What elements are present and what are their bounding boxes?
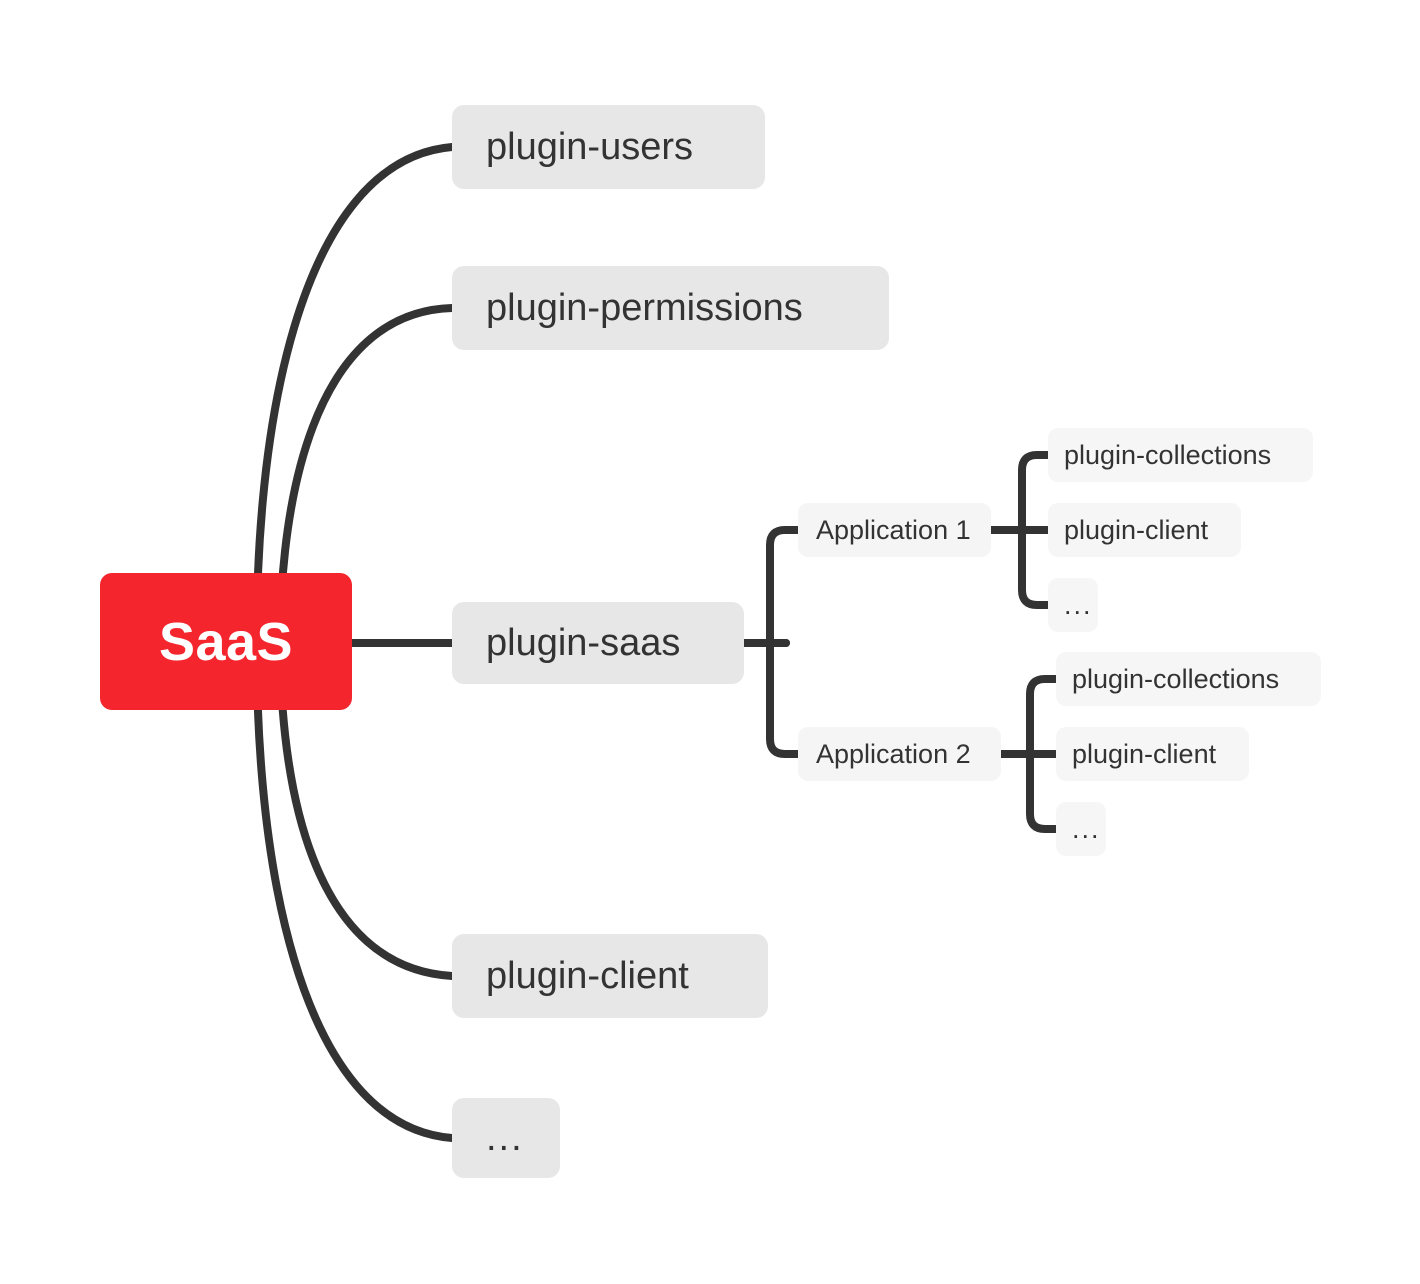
mindmap-canvas: SaaS plugin-users plugin-permissions plu…	[0, 0, 1420, 1284]
edge-application-2-trunk-to-more	[1030, 754, 1056, 829]
node-plugin-users-label: plugin-users	[486, 126, 693, 169]
node-plugin-permissions-label: plugin-permissions	[486, 287, 803, 330]
root-node-label: SaaS	[159, 611, 293, 673]
node-app1-plugin-collections[interactable]: plugin-collections	[1048, 428, 1313, 482]
node-plugin-permissions[interactable]: plugin-permissions	[452, 266, 889, 350]
node-app2-plugin-collections-label: plugin-collections	[1072, 664, 1279, 695]
node-application-2[interactable]: Application 2	[798, 727, 1001, 781]
edge-application-1-trunk-to-more	[1022, 530, 1048, 605]
node-plugin-saas-label: plugin-saas	[486, 622, 680, 665]
node-app1-plugin-collections-label: plugin-collections	[1064, 440, 1271, 471]
node-more[interactable]: ...	[452, 1098, 560, 1178]
node-plugin-client[interactable]: plugin-client	[452, 934, 768, 1018]
node-app2-more[interactable]: ...	[1056, 802, 1106, 856]
node-app2-plugin-collections[interactable]: plugin-collections	[1056, 652, 1321, 706]
node-plugin-client-label: plugin-client	[486, 955, 689, 998]
node-app1-more-label: ...	[1064, 590, 1093, 621]
node-application-1-label: Application 1	[816, 515, 971, 546]
node-plugin-saas[interactable]: plugin-saas	[452, 602, 744, 684]
node-app2-more-label: ...	[1072, 814, 1101, 845]
edge-trunk-to-application-1	[770, 530, 798, 643]
node-application-2-label: Application 2	[816, 739, 971, 770]
edge-application-1-trunk-to-collections	[1022, 455, 1048, 530]
node-app1-plugin-client-label: plugin-client	[1064, 515, 1208, 546]
node-application-1[interactable]: Application 1	[798, 503, 991, 557]
node-app1-plugin-client[interactable]: plugin-client	[1048, 503, 1241, 557]
node-more-label: ...	[486, 1117, 524, 1160]
node-app2-plugin-client-label: plugin-client	[1072, 739, 1216, 770]
node-app1-more[interactable]: ...	[1048, 578, 1098, 632]
root-node-saas[interactable]: SaaS	[100, 573, 352, 710]
edge-application-2-trunk-to-collections	[1030, 679, 1056, 754]
node-plugin-users[interactable]: plugin-users	[452, 105, 765, 189]
node-app2-plugin-client[interactable]: plugin-client	[1056, 727, 1249, 781]
edge-trunk-to-application-2	[770, 643, 798, 754]
